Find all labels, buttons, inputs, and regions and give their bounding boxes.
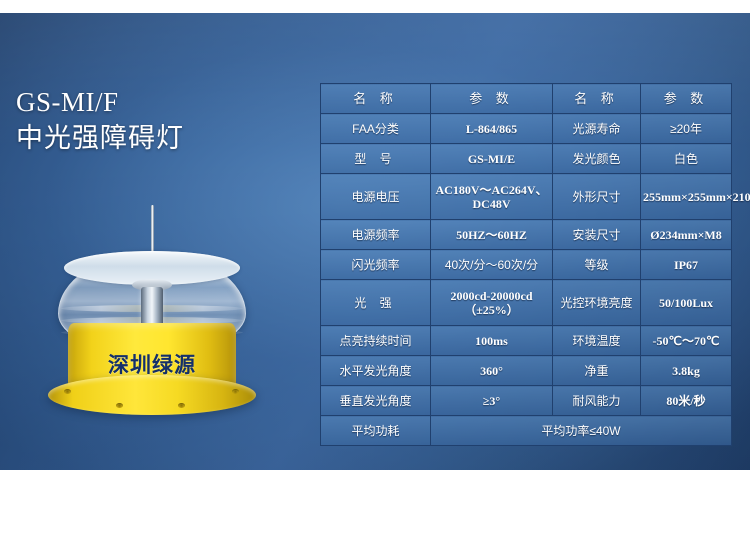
- header-cell-param-1: 参 数: [431, 84, 553, 114]
- table-row: 电源电压 AC180V～AC264V、DC48V 外形尺寸 255mm×255m…: [321, 174, 732, 220]
- spec-value-total: 平均功率≤40W: [431, 416, 732, 446]
- spec-label: 平均功耗: [321, 416, 431, 446]
- bolt-hole: [64, 389, 71, 394]
- spec-label: 闪光频率: [321, 250, 431, 280]
- product-name-title: 中光强障碍灯: [16, 120, 184, 156]
- spec-label: 垂直发光角度: [321, 386, 431, 416]
- spec-value: AC180V～AC264V、DC48V: [431, 174, 553, 220]
- header-cell-name-1: 名 称: [321, 84, 431, 114]
- spec-label: 光控环境亮度: [553, 280, 641, 326]
- table-row: 点亮持续时间 100ms 环境温度 -50℃～70℃: [321, 326, 732, 356]
- spec-label: 安装尺寸: [553, 220, 641, 250]
- spec-label: 点亮持续时间: [321, 326, 431, 356]
- page-title: GS-MI/F 中光强障碍灯: [16, 86, 184, 156]
- spec-label: 光 强: [321, 280, 431, 326]
- spec-label: FAA分类: [321, 114, 431, 144]
- table-row: 垂直发光角度 ≥3° 耐风能力 80米/秒: [321, 386, 732, 416]
- mounting-flange: [48, 375, 256, 415]
- bolt-hole: [232, 389, 239, 394]
- table-row: 水平发光角度 360° 净重 3.8kg: [321, 356, 732, 386]
- header-cell-name-2: 名 称: [553, 84, 641, 114]
- header-cell-param-2: 参 数: [641, 84, 732, 114]
- spec-value: -50℃～70℃: [641, 326, 732, 356]
- spec-label: 水平发光角度: [321, 356, 431, 386]
- spec-value: 3.8kg: [641, 356, 732, 386]
- table-header-row: 名 称 参 数 名 称 参 数: [321, 84, 732, 114]
- spec-value: 100ms: [431, 326, 553, 356]
- table-row: 型 号 GS-MI/E 发光颜色 白色: [321, 144, 732, 174]
- spec-value: L-864/865: [431, 114, 553, 144]
- spec-value: 2000cd-20000cd（±25%）: [431, 280, 553, 326]
- spec-value: 360°: [431, 356, 553, 386]
- spec-label: 净重: [553, 356, 641, 386]
- spec-label: 环境温度: [553, 326, 641, 356]
- spec-value: Ø234mm×M8: [641, 220, 732, 250]
- spec-label: 等级: [553, 250, 641, 280]
- spec-value: GS-MI/E: [431, 144, 553, 174]
- spec-label: 电源电压: [321, 174, 431, 220]
- spec-value: 50/100Lux: [641, 280, 732, 326]
- table-row: 电源频率 50HZ～60HZ 安装尺寸 Ø234mm×M8: [321, 220, 732, 250]
- product-photo: 深圳绿源: [44, 205, 260, 420]
- spec-label: 外形尺寸: [553, 174, 641, 220]
- spec-value: ≥20年: [641, 114, 732, 144]
- spec-value: IP67: [641, 250, 732, 280]
- spec-value: ≥3°: [431, 386, 553, 416]
- spec-value: 80米/秒: [641, 386, 732, 416]
- table-row: 闪光频率 40次/分～60次/分 等级 IP67: [321, 250, 732, 280]
- product-spec-banner: GS-MI/F 中光强障碍灯 深圳绿源 名 称 参 数 名 称 参 数: [0, 0, 750, 538]
- spec-label: 发光颜色: [553, 144, 641, 174]
- spec-value: 50HZ～60HZ: [431, 220, 553, 250]
- specification-table: 名 称 参 数 名 称 参 数 FAA分类 L-864/865 光源寿命 ≥20…: [320, 83, 732, 446]
- spec-label: 型 号: [321, 144, 431, 174]
- spec-value: 40次/分～60次/分: [431, 250, 553, 280]
- spec-label: 电源频率: [321, 220, 431, 250]
- table-row: 光 强 2000cd-20000cd（±25%） 光控环境亮度 50/100Lu…: [321, 280, 732, 326]
- spec-value: 255mm×255mm×210mm: [641, 174, 732, 220]
- spec-value: 白色: [641, 144, 732, 174]
- product-model-title: GS-MI/F: [16, 86, 184, 118]
- table-footer-row: 平均功耗 平均功率≤40W: [321, 416, 732, 446]
- spec-label: 耐风能力: [553, 386, 641, 416]
- bolt-hole: [116, 403, 123, 408]
- bolt-hole: [178, 403, 185, 408]
- table-row: FAA分类 L-864/865 光源寿命 ≥20年: [321, 114, 732, 144]
- spec-label: 光源寿命: [553, 114, 641, 144]
